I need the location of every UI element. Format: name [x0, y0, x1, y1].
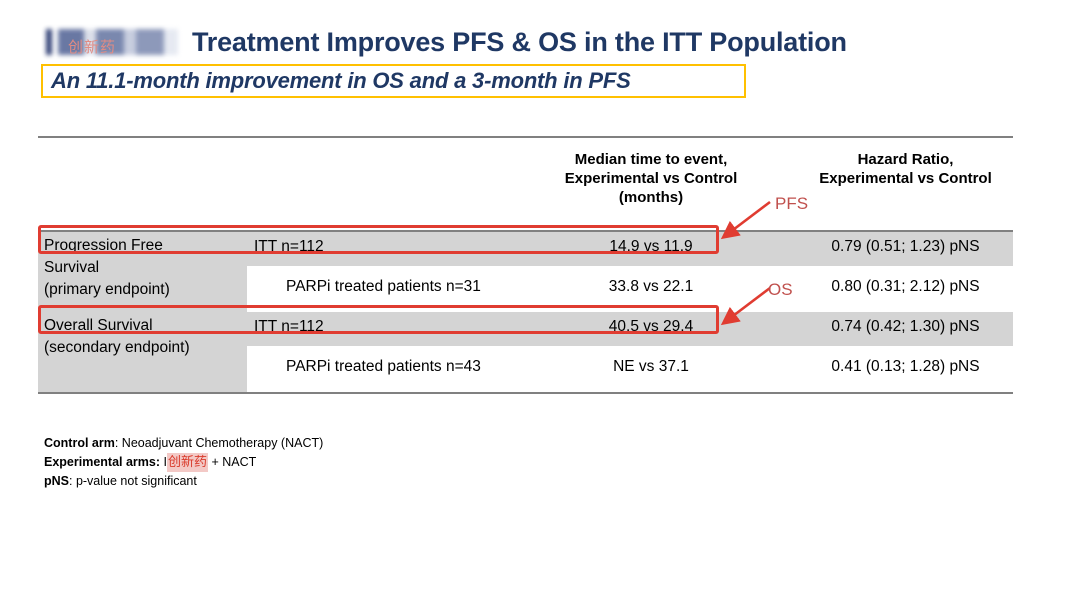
table-bottom-rule — [38, 392, 1013, 394]
table-row-4-hazard: 0.41 (0.13; 1.28) pNS — [798, 358, 1013, 376]
column-header-median-line2: Experimental vs Control — [536, 169, 766, 188]
footnote-control-arm-text: : Neoadjuvant Chemotherapy (NACT) — [115, 436, 323, 450]
table-row-2-population: PARPi treated patients n=31 — [286, 278, 481, 296]
table-top-rule — [38, 136, 1013, 138]
footnote-pns-text: : p-value not significant — [69, 474, 197, 488]
subtitle-text: An 11.1-month improvement in OS and a 3-… — [51, 68, 631, 94]
footnote-pns: pNS: p-value not significant — [44, 472, 323, 491]
column-header-hazard-ratio: Hazard Ratio, Experimental vs Control — [798, 150, 1013, 188]
footnote-experimental-arms: Experimental arms: I创新药 + NACT — [44, 453, 323, 472]
column-header-hazard-line1: Hazard Ratio, — [798, 150, 1013, 169]
logo-watermark-text: 创新药 — [68, 36, 116, 57]
title-row: Treatment Improves PFS & OS in the ITT P… — [46, 22, 847, 62]
page-title: Treatment Improves PFS & OS in the ITT P… — [192, 27, 847, 58]
footnote-redacted-drug-name: 创新药 — [167, 453, 208, 472]
footnote-control-arm-label: Control arm — [44, 436, 115, 450]
annotation-label-pfs: PFS — [775, 194, 808, 214]
annotation-label-os: OS — [768, 280, 793, 300]
table-row-4-population: PARPi treated patients n=43 — [286, 358, 481, 376]
footnote-experimental-arms-label: Experimental arms: — [44, 455, 160, 469]
results-table: Median time to event, Experimental vs Co… — [38, 136, 1013, 394]
slide-canvas: Treatment Improves PFS & OS in the ITT P… — [0, 0, 1080, 604]
footnotes: Control arm: Neoadjuvant Chemotherapy (N… — [44, 434, 323, 491]
footnote-pns-label: pNS — [44, 474, 69, 488]
subtitle-banner: An 11.1-month improvement in OS and a 3-… — [41, 64, 746, 98]
footnote-experimental-suffix: + NACT — [208, 455, 256, 469]
arrow-os-icon — [715, 284, 775, 330]
endpoint-label-pfs-line3: (primary endpoint) — [44, 279, 170, 301]
highlight-box-os — [38, 305, 719, 334]
footnote-experimental-prefix: I — [160, 455, 167, 469]
endpoint-label-os-line2: (secondary endpoint) — [44, 337, 190, 359]
endpoint-label-pfs-line2: Survival — [44, 257, 99, 279]
arrow-pfs-icon — [715, 198, 775, 244]
table-row-1-hazard: 0.79 (0.51; 1.23) pNS — [798, 238, 1013, 256]
column-header-median-line1: Median time to event, — [536, 150, 766, 169]
footnote-control-arm: Control arm: Neoadjuvant Chemotherapy (N… — [44, 434, 323, 453]
table-row-3-hazard: 0.74 (0.42; 1.30) pNS — [798, 318, 1013, 336]
column-header-hazard-line2: Experimental vs Control — [798, 169, 1013, 188]
highlight-box-pfs — [38, 225, 719, 254]
table-row-2-hazard: 0.80 (0.31; 2.12) pNS — [798, 278, 1013, 296]
table-row-4-median: NE vs 37.1 — [536, 358, 766, 376]
